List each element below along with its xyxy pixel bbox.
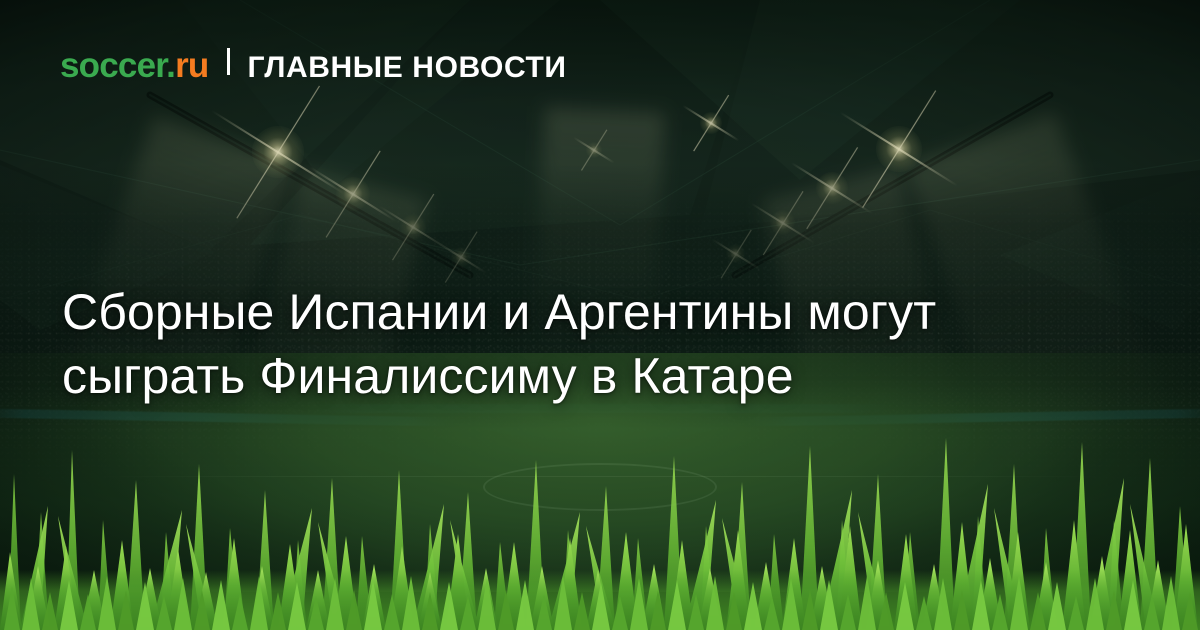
social-share-card: soccer.ru ГЛАВНЫЕ НОВОСТИ Сборные Испани…: [0, 0, 1200, 630]
floodlight-lamp: [451, 247, 471, 267]
floodlight-lamp: [770, 210, 795, 235]
site-logo[interactable]: soccer.ru: [60, 48, 208, 83]
grass-foreground: [0, 420, 1200, 630]
card-header: soccer.ru ГЛАВНЫЕ НОВОСТИ: [60, 48, 567, 83]
section-label: ГЛАВНЫЕ НОВОСТИ: [247, 53, 566, 83]
floodlight-lamp: [336, 177, 370, 211]
page-title: Сборные Испании и Аргентины могут сыграт…: [62, 280, 1152, 408]
floodlight-lamp: [876, 126, 922, 172]
floodlight-lamp: [726, 244, 745, 263]
floodlight-lamp: [816, 172, 848, 204]
floodlight-lamp: [586, 142, 602, 158]
header-separator-icon: [227, 48, 230, 75]
floodlight-lamp: [252, 126, 304, 178]
logo-text-soccer: soccer: [60, 46, 166, 85]
headline-line-1: Сборные Испании и Аргентины могут: [62, 280, 1152, 344]
floodlight-lamp: [700, 112, 722, 134]
headline-line-2: сыграть Финалиссиму в Катаре: [62, 344, 1152, 408]
logo-text-dot: .: [166, 46, 175, 85]
logo-text-ru: ru: [175, 46, 208, 85]
floodlight-lamp: [400, 214, 426, 240]
